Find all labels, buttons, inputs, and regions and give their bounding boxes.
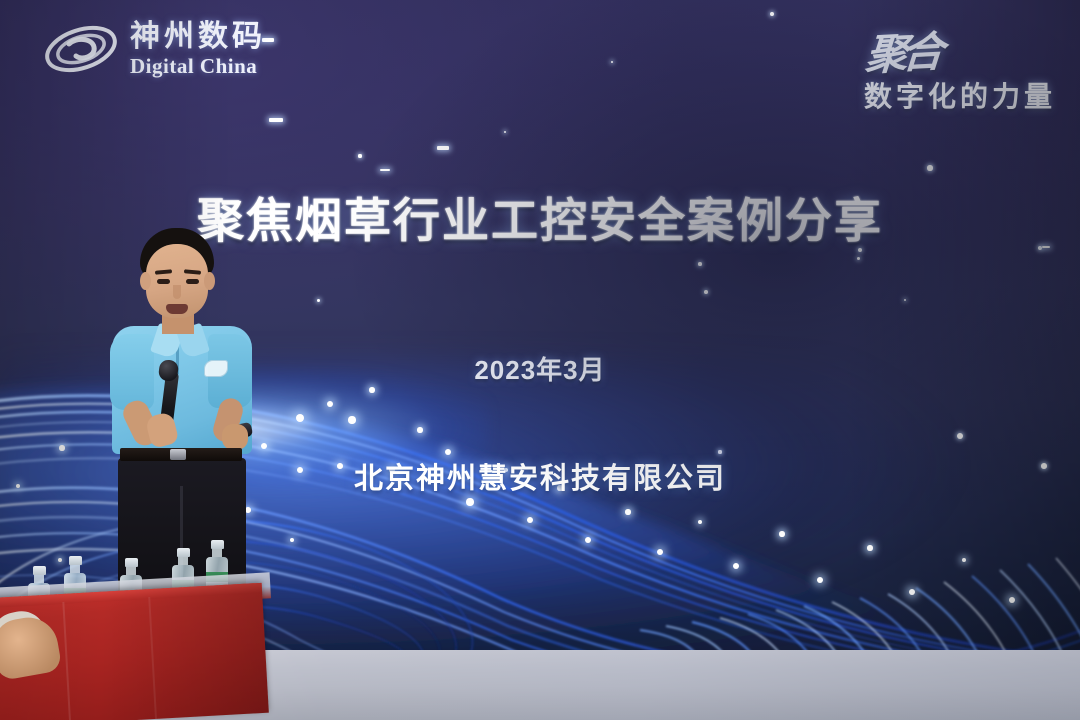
conference-stage-photo: 神州数码 Digital China 聚合 数字化的力量 聚焦烟草行业工控安全案… xyxy=(0,0,1080,720)
bottle-neck xyxy=(34,575,44,583)
wave-particle xyxy=(779,531,784,536)
event-logo: 聚合 数字化的力量 xyxy=(864,18,1056,115)
screen-particle xyxy=(380,169,389,171)
screen-particle xyxy=(317,299,320,302)
wave-particle xyxy=(585,537,591,543)
bottle-neck xyxy=(178,557,188,565)
bottle-neck xyxy=(126,567,136,575)
bottle-cap xyxy=(33,566,46,575)
wave-particle xyxy=(625,509,630,514)
speaker-mouth xyxy=(166,304,188,314)
digital-china-logo: 神州数码 Digital China xyxy=(42,18,266,80)
speaker-nose xyxy=(173,285,181,299)
screen-particle xyxy=(857,257,860,260)
wave-particle xyxy=(348,416,355,423)
bottle-cap xyxy=(211,540,224,549)
wave-particle xyxy=(59,445,64,450)
screen-particle xyxy=(770,12,775,17)
wave-particle xyxy=(1009,597,1015,603)
bottle-cap xyxy=(69,556,82,565)
wave-particle xyxy=(867,545,872,550)
screen-particle xyxy=(904,299,907,302)
event-brush-text: 聚合 xyxy=(864,18,941,83)
brand-name-en: Digital China xyxy=(130,56,266,77)
speaker-sleeve-left xyxy=(110,334,154,410)
bottle-neck xyxy=(70,565,80,573)
wave-particle xyxy=(466,498,473,505)
shirt-chest-logo xyxy=(204,360,228,377)
brand-name-cn: 神州数码 xyxy=(130,22,266,52)
screen-particle xyxy=(504,131,507,134)
screen-particle xyxy=(437,146,450,149)
speaker-ear-left xyxy=(140,272,151,290)
bottle-cap xyxy=(125,558,138,567)
speaker-eye-right xyxy=(186,279,199,284)
speaker-ear-right xyxy=(204,272,215,290)
screen-particle xyxy=(269,118,284,122)
screen-particle xyxy=(611,61,614,64)
screen-particle xyxy=(927,165,932,170)
wave-particle xyxy=(369,387,374,392)
wave-particle xyxy=(733,563,739,569)
wave-particle xyxy=(296,414,304,422)
speaker-eye-left xyxy=(157,279,170,284)
digital-china-swirl-icon xyxy=(42,18,120,80)
screen-particle xyxy=(704,290,708,294)
bottle-neck xyxy=(212,549,222,557)
belt-buckle xyxy=(170,449,186,460)
wave-particle xyxy=(909,589,915,595)
screen-particle xyxy=(358,154,361,157)
screen-particle xyxy=(698,262,702,266)
speaker-hand-right xyxy=(222,424,248,450)
bottle-cap xyxy=(177,548,190,557)
wave-particle xyxy=(417,427,422,432)
